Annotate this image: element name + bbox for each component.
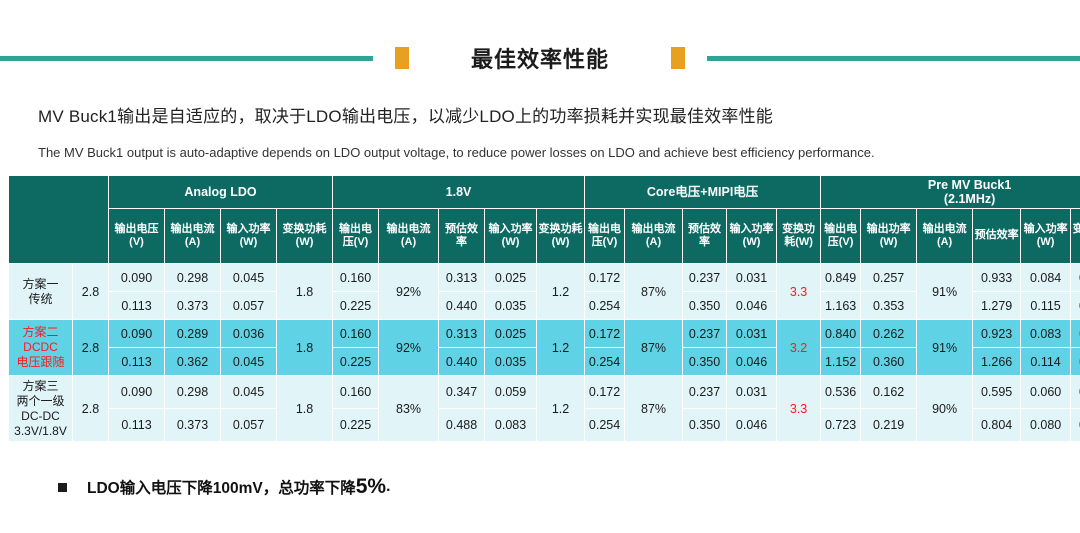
cell-1p8v-ploss: 0.035 [485,292,537,320]
cell-ldo-ploss: 0.045 [221,376,277,409]
cell-ldo-pin: 0.289 [165,320,221,348]
cell-core-vout: 1.2 [537,320,585,376]
cell-ldo-iout: 0.090 [109,264,165,292]
cell-core-pin: 0.237 [683,320,727,348]
cell-ldo-iout: 0.090 [109,376,165,409]
cell-ldo-vout: 2.8 [73,376,109,442]
slide-header: 最佳效率性能 [0,0,1080,92]
cell-1p8v-ploss: 0.083 [485,409,537,442]
cell-buck-pout: 0.849 [821,264,861,292]
cell-ldo-ploss: 0.057 [221,292,277,320]
cell-1p8v-pin: 0.313 [439,264,485,292]
cell-buck-ploss: 0.114 [1021,348,1071,376]
cell-1p8v-eff: 92% [379,320,439,376]
subheader-ldo-pin: 输入功率(W) [221,209,277,264]
cell-ldo-ploss: 0.045 [221,264,277,292]
subheader-buck-pin: 输入功率(W) [1021,209,1071,264]
cell-1p8v-eff: 83% [379,376,439,442]
group-pre-mv-buck1-line1: Pre MV Buck1 [928,178,1011,192]
cell-ldo-vout: 2.8 [73,320,109,376]
subheader-buck-ploss: 变换功耗(W) [1071,209,1080,264]
table-row: 方案二DCDC电压跟随2.80.0900.2890.0361.80.16092%… [9,320,1080,348]
scheme-label: 方案一传统 [9,264,73,320]
cell-buck-ploss: 0.115 [1021,292,1071,320]
performance-table-wrapper: Analog LDO 1.8V Core电压+MIPI电压 Pre MV Buc… [8,175,1072,442]
cell-total-power: 0.265 [1071,409,1080,442]
subheader-core-ploss: 变换功耗(W) [777,209,821,264]
cell-1p8v-iout: 0.225 [333,409,379,442]
subheader-buck-iout: 输出电流(A) [917,209,973,264]
cell-buck-pout: 0.840 [821,320,861,348]
cell-core-iout: 0.254 [585,409,625,442]
cell-core-iout: 0.254 [585,292,625,320]
cell-core-vout: 1.2 [537,264,585,320]
cell-1p8v-iout: 0.160 [333,264,379,292]
cell-ldo-iout: 0.113 [109,348,165,376]
cell-ldo-pin: 0.298 [165,376,221,409]
cell-ldo-iout: 0.090 [109,320,165,348]
subheader-buck-vout: 输出电压(V) [821,209,861,264]
cell-core-pin: 0.350 [683,292,727,320]
cell-core-ploss: 0.031 [727,320,777,348]
cell-buck-iout: 0.360 [861,348,917,376]
cell-1p8v-pin: 0.347 [439,376,485,409]
cell-buck-iout: 0.162 [861,376,917,409]
group-core-mipi: Core电压+MIPI电压 [585,176,821,209]
header-square-left-icon [395,47,409,69]
header-rule-left [0,56,373,61]
cell-buck-vout: 3.3 [777,264,821,320]
scheme-label: 方案二DCDC电压跟随 [9,320,73,376]
cell-1p8v-iout: 0.225 [333,292,379,320]
cell-buck-ploss: 0.060 [1021,376,1071,409]
cell-total-power: 0.175 [1071,320,1080,348]
footer-bullet: LDO输入电压下降100mV，总功率下降 5% . [58,475,390,499]
subheader-buck-eff: 预估效率 [973,209,1021,264]
cell-core-pin: 0.350 [683,348,727,376]
cell-core-vout: 1.2 [537,376,585,442]
cell-1p8v-iout: 0.160 [333,376,379,409]
footer-bullet-tail: . [386,478,390,496]
subheader-ldo-ploss: 变换功耗(W) [277,209,333,264]
title-bar: 最佳效率性能 [0,46,1080,70]
cell-1p8v-vout: 1.8 [277,264,333,320]
cell-core-ploss: 0.046 [727,348,777,376]
cell-1p8v-ploss: 0.035 [485,348,537,376]
cell-ldo-vout: 2.8 [73,264,109,320]
cell-1p8v-iout: 0.160 [333,320,379,348]
cell-core-iout: 0.254 [585,348,625,376]
cell-buck-eff: 91% [917,320,973,376]
cell-buck-pin: 0.595 [973,376,1021,409]
page-title: 最佳效率性能 [431,42,649,74]
cell-core-ploss: 0.031 [727,264,777,292]
cell-buck-vout: 3.2 [777,320,821,376]
group-header-row: Analog LDO 1.8V Core电压+MIPI电压 Pre MV Buc… [9,176,1080,209]
cell-ldo-pin: 0.373 [165,409,221,442]
cell-buck-iout: 0.219 [861,409,917,442]
cell-ldo-pin: 0.373 [165,292,221,320]
subheader-1p8v-iout: 输出电流(A) [379,209,439,264]
cell-core-eff: 87% [625,264,683,320]
header-square-right-icon [671,47,685,69]
footer-bullet-highlight: 5% [356,475,386,499]
cell-buck-pin: 1.266 [973,348,1021,376]
cell-1p8v-pin: 0.440 [439,348,485,376]
cell-core-pin: 0.350 [683,409,727,442]
cell-1p8v-ploss: 0.025 [485,264,537,292]
cell-ldo-pin: 0.362 [165,348,221,376]
intro-text-en: The MV Buck1 output is auto-adaptive dep… [38,145,1048,160]
cell-buck-pin: 0.933 [973,264,1021,292]
cell-ldo-pin: 0.298 [165,264,221,292]
table-head: Analog LDO 1.8V Core电压+MIPI电压 Pre MV Buc… [9,176,1080,264]
cell-total-power: 0.185 [1071,264,1080,292]
table-row: 方案三两个一级DC-DC3.3V/1.8V2.80.0900.2980.0451… [9,376,1080,409]
subheader-1p8v-ploss: 变换功耗(W) [537,209,585,264]
group-pre-mv-buck1: Pre MV Buck1 (2.1MHz) [821,176,1080,209]
cell-total-power: 0.195 [1071,376,1080,409]
cell-buck-pout: 1.152 [821,348,861,376]
cell-1p8v-eff: 92% [379,264,439,320]
cell-buck-ploss: 0.083 [1021,320,1071,348]
cell-core-ploss: 0.046 [727,409,777,442]
cell-1p8v-vout: 1.8 [277,376,333,442]
subheader-core-vout: 输出电压(V) [585,209,625,264]
subheader-core-pin: 输入功率(W) [727,209,777,264]
subheader-buck-pout: 输出功率(W) [861,209,917,264]
footer-bullet-text: LDO输入电压下降100mV，总功率下降 [87,476,356,498]
table-row: 方案一传统2.80.0900.2980.0451.80.16092%0.3130… [9,264,1080,292]
cell-core-eff: 87% [625,376,683,442]
cell-1p8v-pin: 0.440 [439,292,485,320]
cell-buck-pout: 0.723 [821,409,861,442]
cell-core-ploss: 0.046 [727,292,777,320]
cell-1p8v-pin: 0.488 [439,409,485,442]
table-body: 方案一传统2.80.0900.2980.0451.80.16092%0.3130… [9,264,1080,442]
cell-core-eff: 87% [625,320,683,376]
cell-total-power: 0.252 [1071,292,1080,320]
cell-1p8v-ploss: 0.025 [485,320,537,348]
cell-core-iout: 0.172 [585,376,625,409]
cell-buck-iout: 0.262 [861,320,917,348]
cell-core-iout: 0.172 [585,264,625,292]
cell-1p8v-pin: 0.313 [439,320,485,348]
cell-buck-pin: 1.279 [973,292,1021,320]
cell-core-iout: 0.172 [585,320,625,348]
cell-1p8v-ploss: 0.059 [485,376,537,409]
cell-total-power: 0.240 [1071,348,1080,376]
intro-text-cn: MV Buck1输出是自适应的，取决于LDO输出电压，以减少LDO上的功率损耗并… [38,102,1048,127]
cell-ldo-iout: 0.113 [109,292,165,320]
cell-ldo-ploss: 0.057 [221,409,277,442]
subheader-1p8v-vout: 输出电压(V) [333,209,379,264]
cell-buck-pout: 1.163 [821,292,861,320]
performance-table: Analog LDO 1.8V Core电压+MIPI电压 Pre MV Buc… [8,175,1080,442]
subheader-core-iout: 输出电流(A) [625,209,683,264]
subheader-1p8v-eff: 预估效率 [439,209,485,264]
group-blank [9,176,109,264]
cell-buck-pin: 0.923 [973,320,1021,348]
cell-core-pin: 0.237 [683,264,727,292]
cell-core-ploss: 0.031 [727,376,777,409]
group-pre-mv-buck1-line2: (2.1MHz) [944,192,995,206]
cell-buck-vout: 3.3 [777,376,821,442]
cell-buck-iout: 0.257 [861,264,917,292]
cell-ldo-ploss: 0.036 [221,320,277,348]
subheader-core-eff: 预估效率 [683,209,727,264]
subheader-1p8v-pin: 输入功率(W) [485,209,537,264]
scheme-label: 方案三两个一级DC-DC3.3V/1.8V [9,376,73,442]
subheader-ldo-iout: 输出电流(A) [165,209,221,264]
cell-buck-ploss: 0.080 [1021,409,1071,442]
cell-buck-pin: 0.804 [973,409,1021,442]
group-analog-ldo: Analog LDO [109,176,333,209]
subheader-row: 输出电压(V) 输出电流(A) 输入功率(W) 变换功耗(W) 输出电压(V) … [9,209,1080,264]
cell-1p8v-iout: 0.225 [333,348,379,376]
cell-ldo-ploss: 0.045 [221,348,277,376]
cell-buck-eff: 91% [917,264,973,320]
square-bullet-icon [58,483,67,492]
cell-core-pin: 0.237 [683,376,727,409]
cell-buck-iout: 0.353 [861,292,917,320]
cell-buck-pout: 0.536 [821,376,861,409]
header-rule-right [707,56,1080,61]
cell-buck-eff: 90% [917,376,973,442]
cell-ldo-iout: 0.113 [109,409,165,442]
cell-buck-ploss: 0.084 [1021,264,1071,292]
group-1p8v: 1.8V [333,176,585,209]
cell-1p8v-vout: 1.8 [277,320,333,376]
subheader-ldo-vout: 输出电压(V) [109,209,165,264]
